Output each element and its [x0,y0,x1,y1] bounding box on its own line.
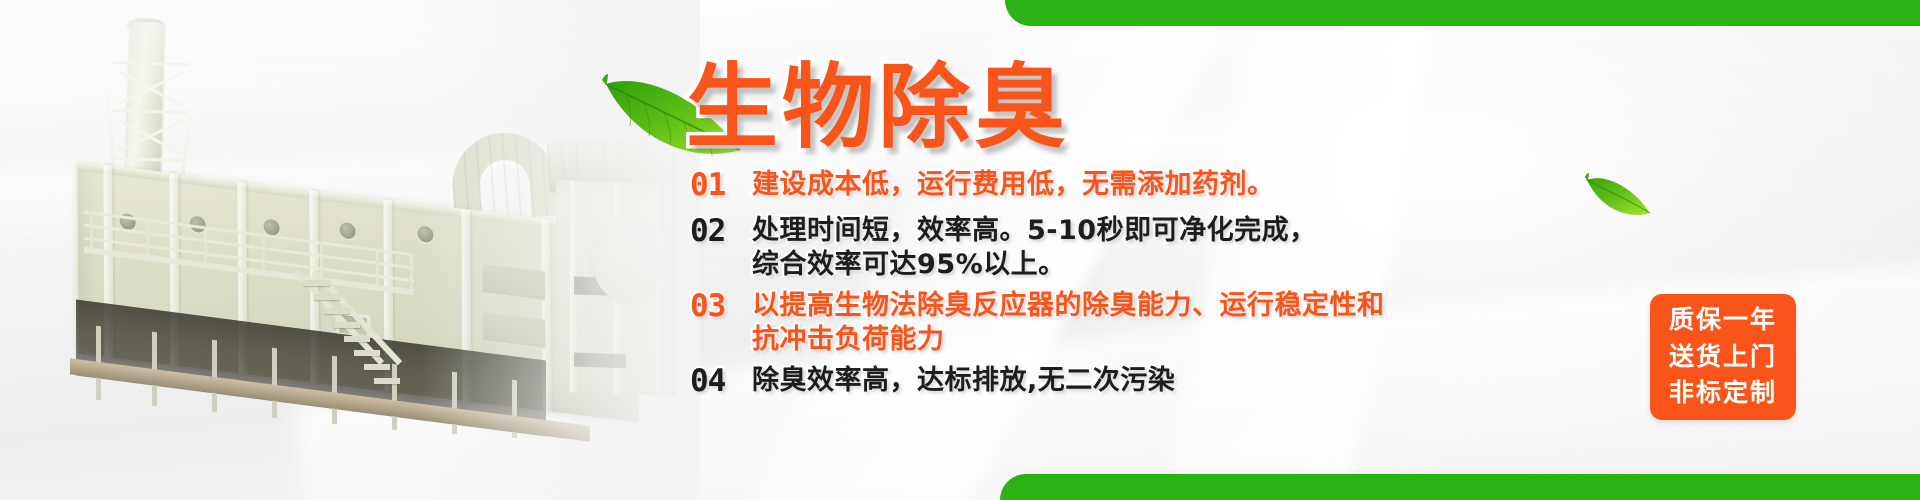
feature-number: 01 [690,168,752,204]
feature-text: 除臭效率高，达标排放,无二次污染 [752,364,1175,399]
feature-number: 02 [690,214,752,250]
service-badge: 质保一年 送货上门 非标定制 [1650,294,1796,420]
badge-line-warranty: 质保一年 [1669,303,1777,338]
feature-text: 建设成本低，运行费用低，无需添加药剂。 [752,168,1275,203]
feature-text: 处理时间短，效率高。5-10秒即可净化完成， 综合效率可达95%以上。 [752,214,1317,283]
badge-line-delivery: 送货上门 [1669,340,1777,375]
fan-housing-disc [592,216,660,302]
access-stairs [296,268,416,396]
green-bar-bottom [1000,474,1920,500]
feature-item-01: 01 建设成本低，运行费用低，无需添加药剂。 [690,168,1690,204]
green-bar-top [1005,0,1920,26]
equipment-photo [0,0,700,500]
feature-item-04: 04 除臭效率高，达标排放,无二次污染 [690,364,1690,400]
feature-text: 以提高生物法除臭反应器的除臭能力、运行稳定性和 抗冲击负荷能力 [752,289,1385,358]
promo-banner: 生物除臭 01 建设成本低，运行费用低，无需添加药剂。 02 处理时间短，效率高… [0,0,1920,500]
feature-list: 01 建设成本低，运行费用低，无需添加药剂。 02 处理时间短，效率高。5-10… [690,168,1690,407]
badge-line-customization: 非标定制 [1669,376,1777,411]
feature-number: 04 [690,364,752,400]
feature-number: 03 [690,289,752,325]
page-title: 生物除臭 [686,62,1070,154]
feature-item-03: 03 以提高生物法除臭反应器的除臭能力、运行稳定性和 抗冲击负荷能力 [690,289,1690,358]
feature-item-02: 02 处理时间短，效率高。5-10秒即可净化完成， 综合效率可达95%以上。 [690,214,1690,283]
